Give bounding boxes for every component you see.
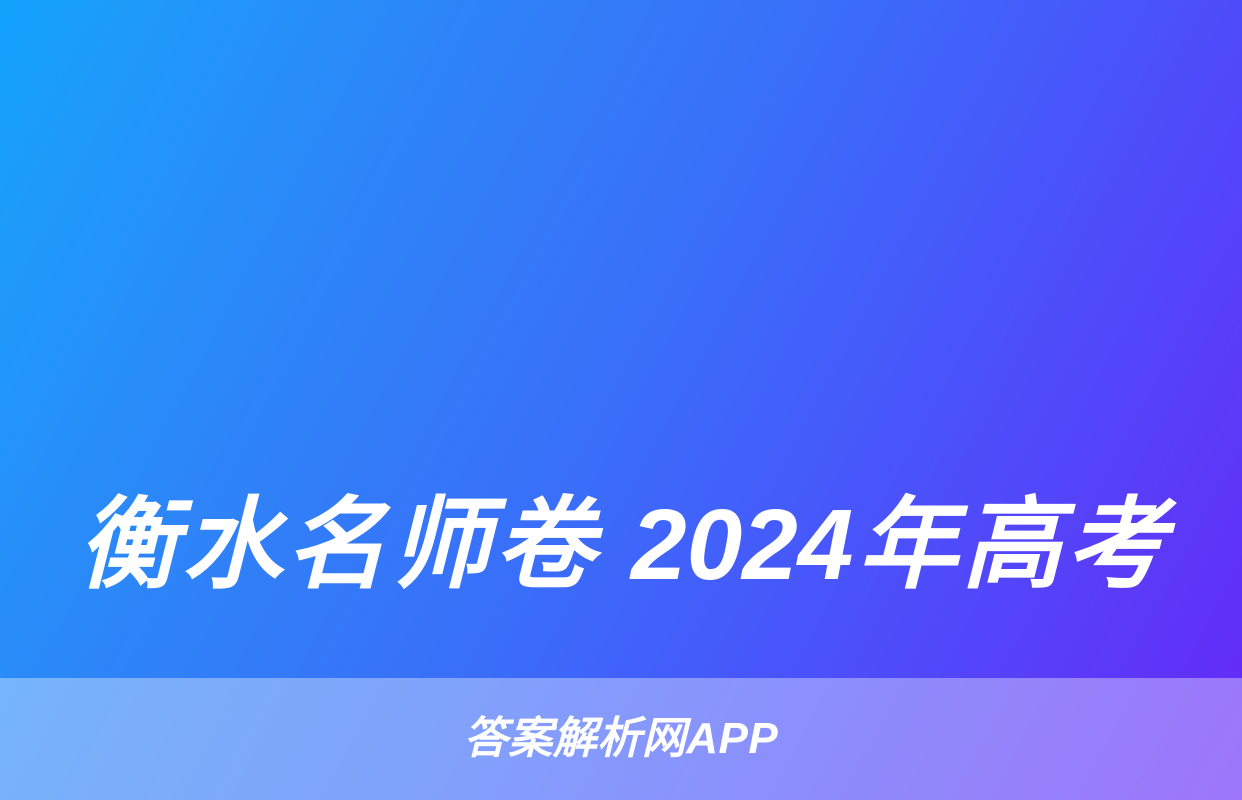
title-line-1: 衡水名师卷 2024年高考 <box>78 470 1166 620</box>
poster-canvas: 衡水名师卷 2024年高考 模拟调研卷(新高考◇)语 文(二)2答案 答案解析网… <box>0 0 1242 800</box>
brand-label: 答案解析网APP <box>464 717 778 761</box>
footer-brand-band: 答案解析网APP <box>0 678 1242 800</box>
